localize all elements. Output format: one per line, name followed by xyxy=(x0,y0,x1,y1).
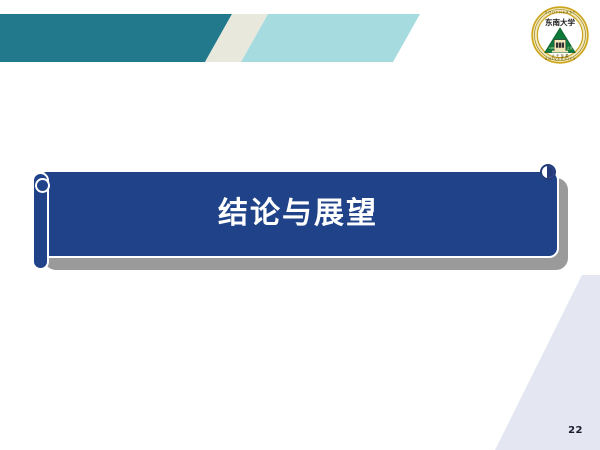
svg-text:东南大学: 东南大学 xyxy=(545,17,576,27)
svg-text:止善: 止善 xyxy=(567,45,573,50)
page-number: 22 xyxy=(568,425,583,436)
dark-teal-parallelogram xyxy=(0,14,232,62)
southeast-university-seal-icon: S O U T H E A S T U N I V E R S I T Y 东南… xyxy=(531,6,589,64)
wedge-shape xyxy=(495,275,600,450)
svg-text:1902: 1902 xyxy=(549,46,557,50)
banner-roll-cap-icon xyxy=(35,178,50,193)
svg-text:S O U T H E A S T: S O U T H E A S T xyxy=(545,11,576,15)
slide-title: 结论与展望 xyxy=(218,199,378,229)
presentation-slide: S O U T H E A S T U N I V E R S I T Y 东南… xyxy=(0,0,600,450)
cream-stripe xyxy=(205,14,268,62)
scroll-title-banner: 结论与展望 xyxy=(32,168,562,264)
light-blue-parallelogram xyxy=(241,14,420,62)
svg-text:止 于 至 善: 止 于 至 善 xyxy=(551,53,569,58)
banner-left-scroll-roll xyxy=(32,172,49,270)
banner-top-right-curl-icon xyxy=(540,164,556,180)
banner-body: 结论与展望 xyxy=(37,170,559,258)
decorative-header-band xyxy=(0,0,600,70)
bottom-right-wedge xyxy=(440,275,600,450)
